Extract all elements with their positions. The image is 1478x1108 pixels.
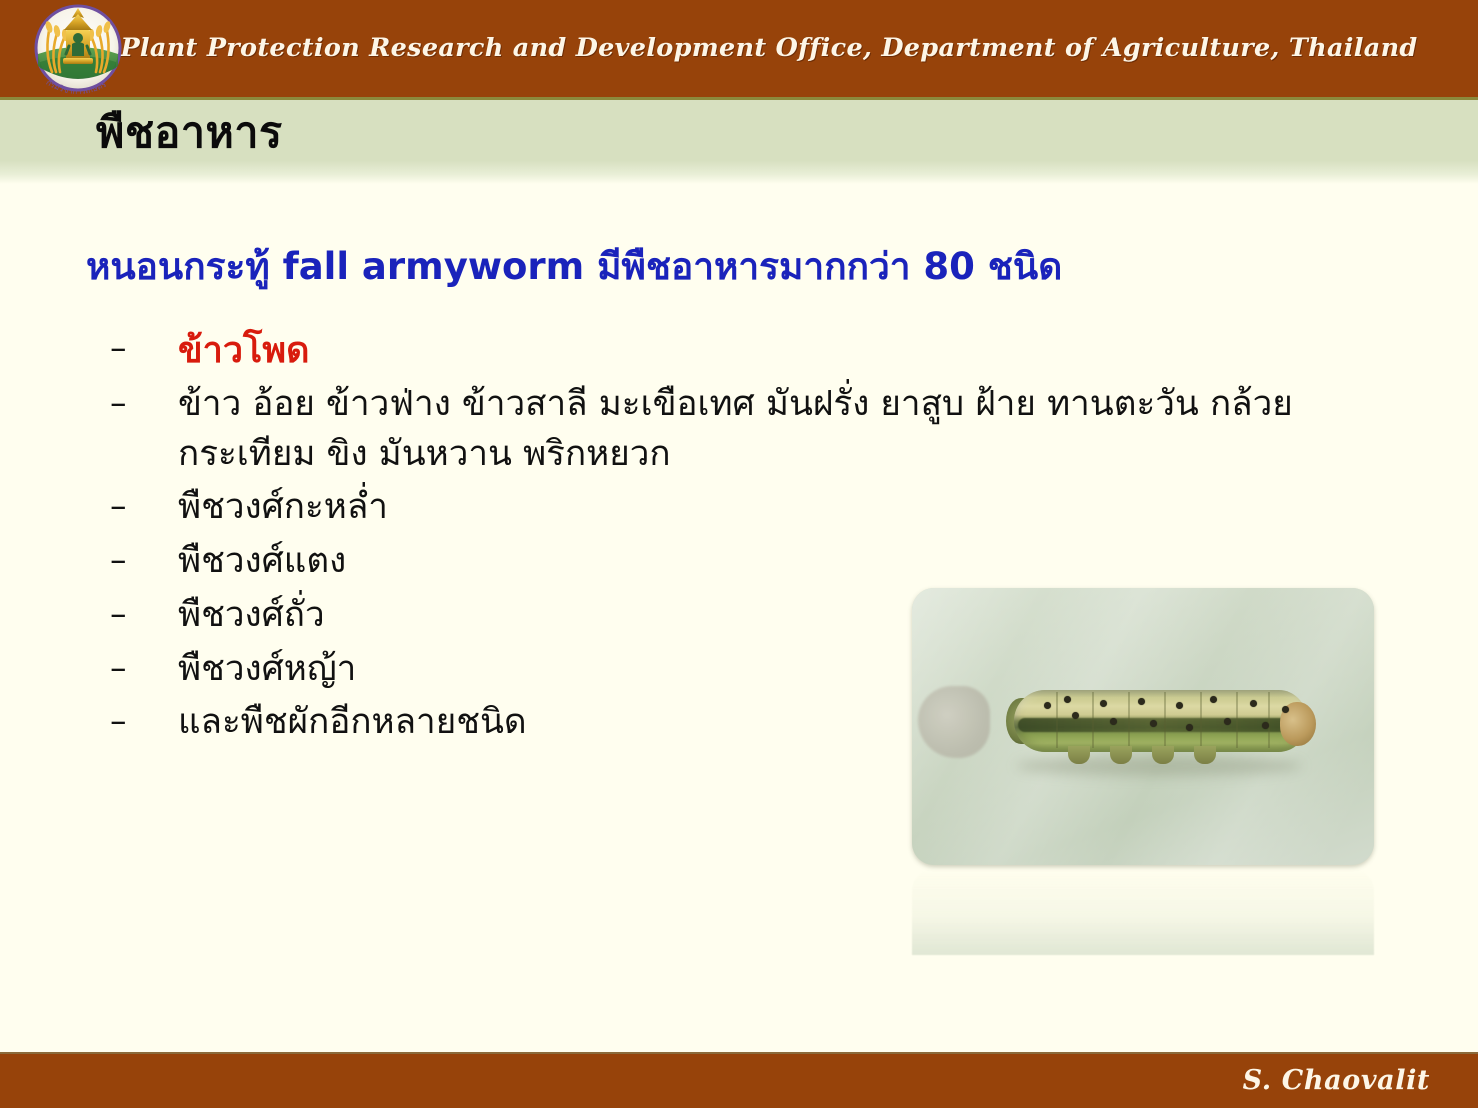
larva-spot: [1224, 718, 1231, 725]
larva-proleg: [1152, 746, 1174, 764]
list-item-label: ข้าว อ้อย ข้าวฟ่าง ข้าวสาลี มะเขือเทศ มั…: [178, 380, 1328, 479]
larva-segment: [1200, 692, 1202, 748]
list-item: – พืชวงศ์แตง: [110, 537, 1370, 587]
list-item-label: พืชวงศ์กะหล่ำ: [178, 483, 388, 533]
fall-armyworm-larva-photo: [912, 588, 1374, 865]
footer-band: S. Chaovalit: [0, 1054, 1478, 1108]
photo-reflection: [912, 869, 1374, 955]
larva-segment: [1268, 692, 1270, 748]
larva-segment: [1164, 692, 1166, 748]
bullet-dash: –: [110, 325, 178, 372]
slide: Plant Protection Research and Developmen…: [0, 0, 1478, 1108]
larva-proleg: [1068, 746, 1090, 764]
header-title: Plant Protection Research and Developmen…: [0, 0, 1478, 97]
page-title: พืชอาหาร: [96, 112, 283, 155]
list-item-label: พืชวงศ์แตง: [178, 537, 346, 587]
bullet-dash: –: [110, 483, 178, 530]
larva-segment: [1056, 692, 1058, 748]
bullet-dash: –: [110, 537, 178, 584]
larva-spot: [1262, 722, 1269, 729]
list-item-label: ข้าวโพด: [178, 325, 309, 376]
department-of-agriculture-emblem-icon: กรมวิชาการเกษตร: [22, 0, 134, 108]
larva-spot: [1150, 720, 1157, 727]
larva-spot: [1176, 702, 1183, 709]
header-band: Plant Protection Research and Developmen…: [0, 0, 1478, 97]
larva-spot: [1100, 700, 1107, 707]
list-item-label: พืชวงศ์หญ้า: [178, 645, 356, 695]
larva-spot: [1282, 706, 1289, 713]
larva-spot: [1044, 702, 1051, 709]
larva-segment: [1092, 692, 1094, 748]
larva-proleg: [1110, 746, 1132, 764]
larva-figure: [1010, 680, 1312, 766]
list-item-label: พืชวงศ์ถั่ว: [178, 591, 325, 641]
larva-lateral-stripe: [1018, 718, 1300, 732]
footer-signature: S. Chaovalit: [1243, 1054, 1430, 1108]
bullet-dash: –: [110, 698, 178, 745]
larva-spot: [1250, 700, 1257, 707]
larva-spot: [1072, 712, 1079, 719]
larva-spot: [1138, 698, 1145, 705]
larva-segment: [1128, 692, 1130, 748]
larva-proleg: [1194, 746, 1216, 764]
larva-spot: [1186, 724, 1193, 731]
photo-debris: [918, 686, 990, 758]
bullet-dash: –: [110, 591, 178, 638]
photo-frame: [912, 588, 1374, 865]
list-item: – พืชวงศ์กะหล่ำ: [110, 483, 1370, 533]
list-item: – ข้าวโพด: [110, 325, 1370, 376]
list-item: – ข้าว อ้อย ข้าวฟ่าง ข้าวสาลี มะเขือเทศ …: [110, 380, 1370, 479]
lead-heading: หนอนกระทู้ fall armyworm มีพืชอาหารมากกว…: [86, 247, 1062, 288]
larva-spot: [1210, 696, 1217, 703]
bullet-dash: –: [110, 645, 178, 692]
larva-spot: [1064, 696, 1071, 703]
larva-spot: [1110, 718, 1117, 725]
larva-segment: [1236, 692, 1238, 748]
list-item-label: และพืชผักอีกหลายชนิด: [178, 698, 527, 748]
bullet-dash: –: [110, 380, 178, 427]
